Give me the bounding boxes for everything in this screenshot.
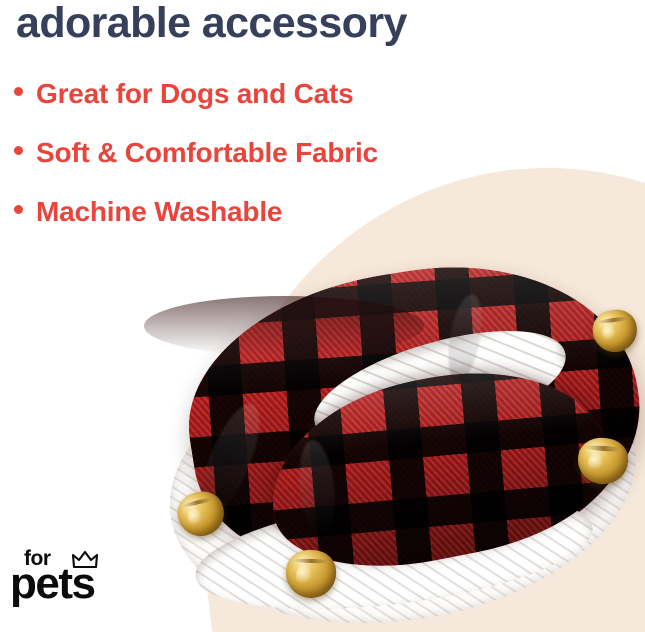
feature-list: Great for Dogs and Cats Soft & Comfortab… xyxy=(14,78,378,255)
product-photo xyxy=(150,250,645,632)
bullet-dot-icon xyxy=(14,205,23,214)
logo-text-pets: pets xyxy=(10,562,94,606)
bullet-dot-icon xyxy=(14,87,23,96)
bullet-dot-icon xyxy=(14,146,23,155)
feature-label: Soft & Comfortable Fabric xyxy=(36,137,378,169)
brand-logo: for pets xyxy=(10,548,130,610)
page-title: adorable accessory xyxy=(16,0,407,49)
list-item: Machine Washable xyxy=(14,196,378,228)
feature-label: Machine Washable xyxy=(36,196,282,228)
feature-label: Great for Dogs and Cats xyxy=(36,78,353,110)
list-item: Great for Dogs and Cats xyxy=(14,78,378,110)
list-item: Soft & Comfortable Fabric xyxy=(14,137,378,169)
product-image-canvas: adorable accessory Great for Dogs and Ca… xyxy=(0,0,645,632)
opening-shadow xyxy=(144,296,424,356)
